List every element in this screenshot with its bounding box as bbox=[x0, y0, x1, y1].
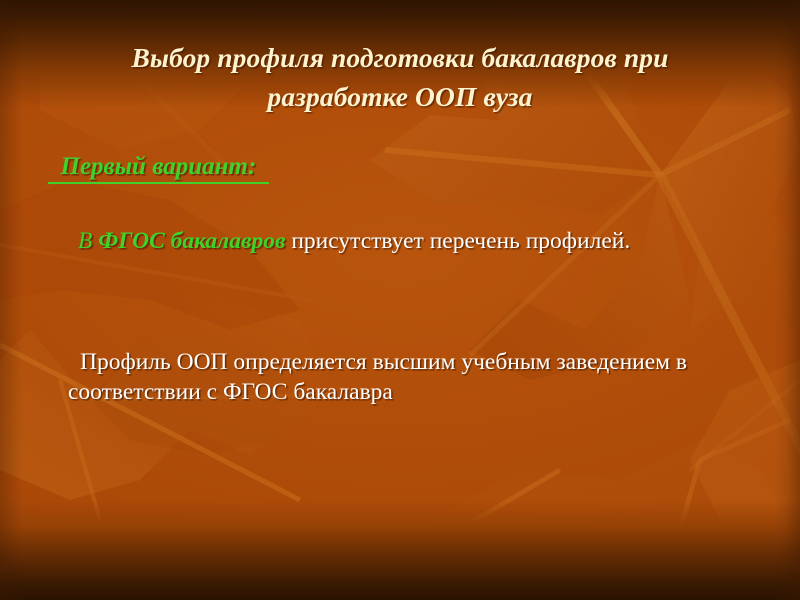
body-paragraph-1: В ФГОС бакалавров присутствует перечень … bbox=[68, 226, 768, 256]
section-label-first-option: Первый вариант: bbox=[48, 152, 269, 184]
slide-title-line-1: Выбор профиля подготовки бакалавров при bbox=[131, 42, 668, 73]
presentation-slide: Выбор профиля подготовки бакалавров при … bbox=[0, 0, 800, 600]
slide-content: Выбор профиля подготовки бакалавров при … bbox=[0, 0, 800, 600]
paragraph-1-green-prefix-2: ФГОС бакалавров bbox=[98, 228, 291, 254]
paragraph-1-rest: присутствует перечень профилей. bbox=[291, 228, 630, 254]
slide-title: Выбор профиля подготовки бакалавров при … bbox=[60, 38, 740, 116]
paragraph-1-green-prefix-1: В bbox=[78, 228, 98, 254]
slide-title-line-2: разработке ООП вуза bbox=[268, 81, 533, 112]
body-paragraph-2: Профиль ООП определяется высшим учебным … bbox=[68, 347, 788, 407]
